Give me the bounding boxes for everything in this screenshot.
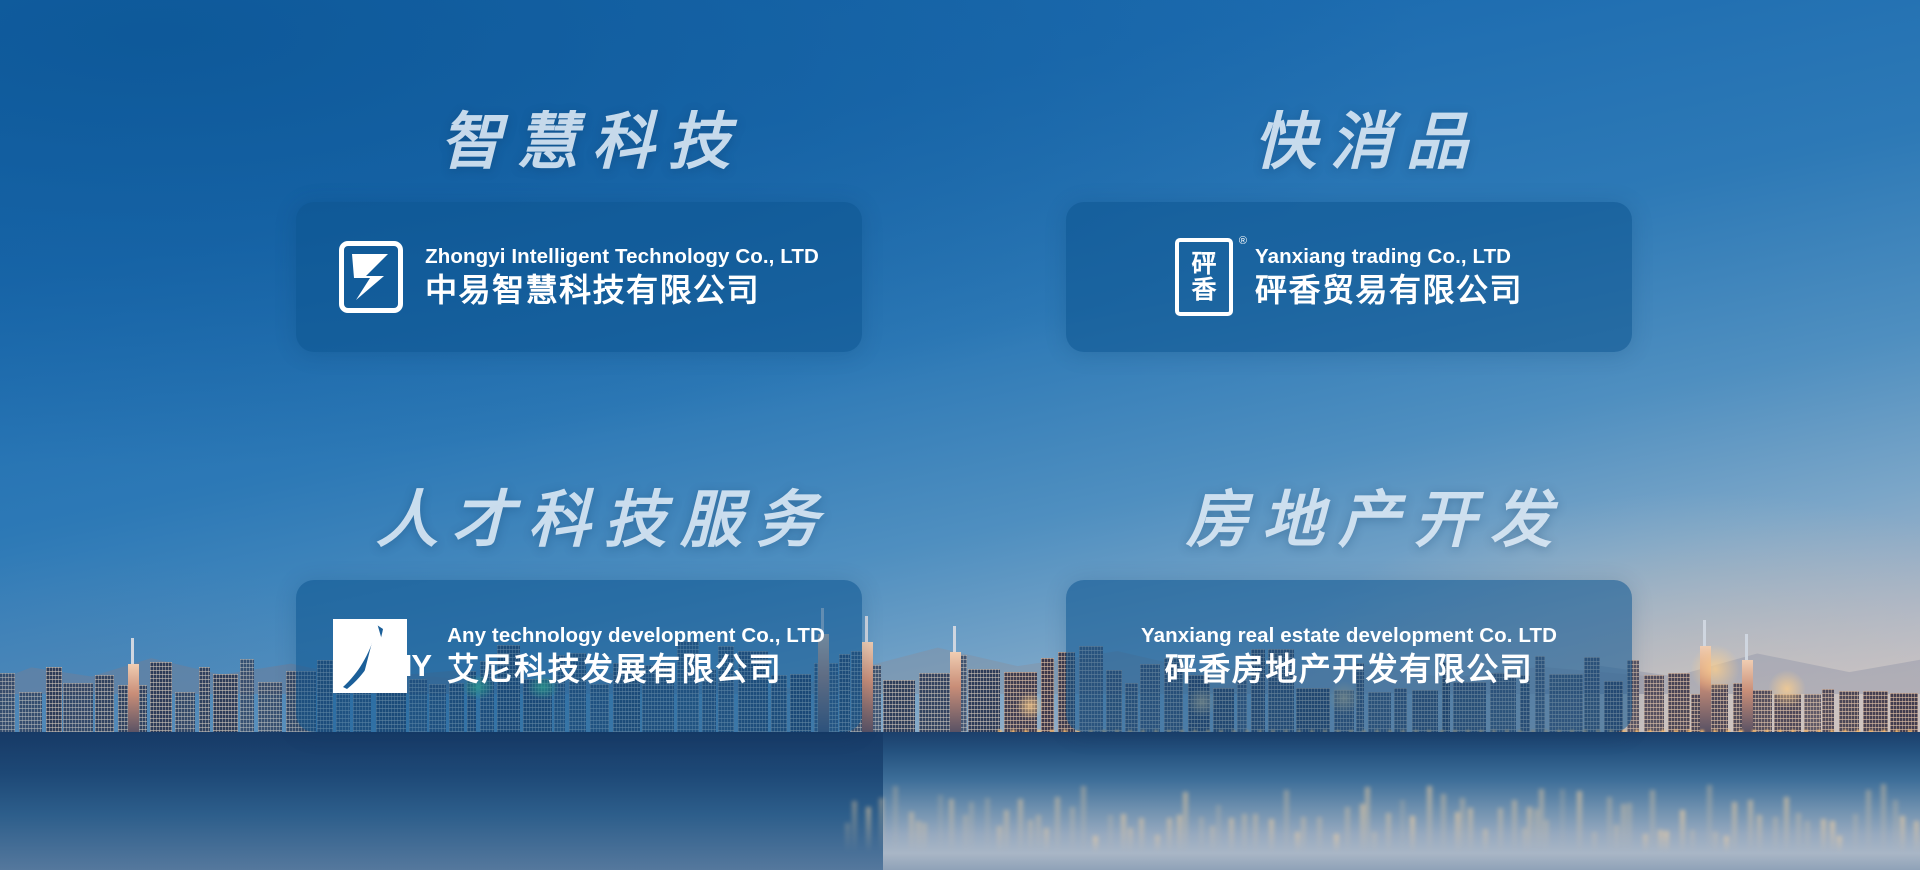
seal-char-top: 砰: [1191, 252, 1216, 277]
registered-trademark-icon: ®: [1239, 236, 1247, 247]
segment-real-estate: 房地产开发 Yanxiang real estate development C…: [1066, 490, 1632, 732]
segment-heading-talent-services: 人才科技服务: [376, 490, 862, 552]
company-name-en: Zhongyi Intelligent Technology Co., LTD: [425, 246, 819, 269]
company-name-cn: 艾尼科技发展有限公司: [447, 652, 825, 687]
seal-char-bottom: 香: [1191, 278, 1216, 303]
company-name-en: Yanxiang real estate development Co. LTD: [1141, 625, 1557, 648]
segments-grid: 智慧科技 Zhongyi Intelligent Technology Co.,…: [0, 0, 1920, 870]
segment-smart-technology: 智慧科技 Zhongyi Intelligent Technology Co.,…: [296, 112, 862, 352]
segment-heading-fmcg: 快消品: [1254, 112, 1632, 174]
company-names-any: Any technology development Co., LTD 艾尼科技…: [447, 625, 825, 688]
company-name-cn: 砰香贸易有限公司: [1255, 273, 1523, 308]
segment-talent-services: 人才科技服务 NY Any technol: [296, 490, 862, 732]
company-name-en: Any technology development Co., LTD: [447, 625, 825, 648]
company-names-zhongyi: Zhongyi Intelligent Technology Co., LTD …: [425, 246, 819, 309]
company-name-cn: 中易智慧科技有限公司: [425, 273, 819, 308]
any-logo: NY: [333, 619, 429, 693]
logo-seal-frame: 砰 香: [1175, 238, 1233, 316]
zhongyi-logo: [339, 241, 403, 313]
company-names-yanxiang-real-estate: Yanxiang real estate development Co. LTD…: [1141, 625, 1557, 688]
segment-fmcg: 快消品 砰 香 ® Yanxiang trading Co., LTD 砰香贸易…: [1066, 112, 1632, 352]
company-names-yanxiang-trading: Yanxiang trading Co., LTD 砰香贸易有限公司: [1255, 246, 1523, 309]
zhongyi-z-mark-icon: [348, 250, 394, 304]
company-name-cn: 砰香房地产开发有限公司: [1165, 652, 1534, 687]
company-card-yanxiang-real-estate[interactable]: Yanxiang real estate development Co. LTD…: [1066, 580, 1632, 732]
any-logo-text: NY: [390, 650, 431, 681]
company-card-any[interactable]: NY Any technology development Co., LTD 艾…: [296, 580, 862, 732]
company-name-en: Yanxiang trading Co., LTD: [1255, 246, 1523, 269]
segment-heading-real-estate: 房地产开发: [1186, 490, 1632, 552]
yanxiang-seal-logo: 砰 香 ®: [1175, 238, 1233, 316]
company-card-yanxiang-trading[interactable]: 砰 香 ® Yanxiang trading Co., LTD 砰香贸易有限公司: [1066, 202, 1632, 352]
company-card-zhongyi[interactable]: Zhongyi Intelligent Technology Co., LTD …: [296, 202, 862, 352]
segment-heading-smart-technology: 智慧科技: [440, 112, 862, 174]
